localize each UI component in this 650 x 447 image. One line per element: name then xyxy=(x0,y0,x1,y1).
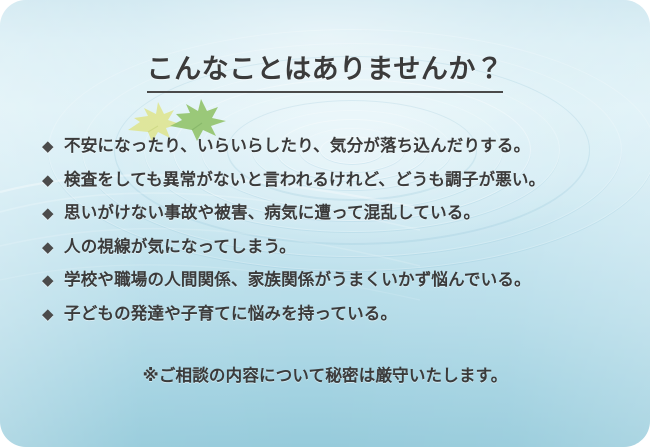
diamond-bullet-icon: ◆ xyxy=(42,139,64,154)
page-title: こんなことはありませんか？ xyxy=(0,47,650,93)
list-item-label: 思いがけない事故や被害、病気に遭って混乱している。 xyxy=(64,199,627,223)
list-item: ◆ 不安になったり、いらいらしたり、気分が落ち込んだりする。 xyxy=(42,132,627,153)
list-item: ◆ 学校や職場の人間関係、家族関係がうまくいかず悩んでいる。 xyxy=(42,266,627,287)
list-item-label: 不安になったり、いらいらしたり、気分が落ち込んだりする。 xyxy=(64,132,627,156)
list-item-label: 子どもの発達や子育てに悩みを持っている。 xyxy=(64,300,627,324)
list-item: ◆ 思いがけない事故や被害、病気に遭って混乱している。 xyxy=(42,199,627,220)
list-item-label: 学校や職場の人間関係、家族関係がうまくいかず悩んでいる。 xyxy=(64,266,627,290)
card-content: こんなことはありませんか？ ◆ 不安になったり、いらいらしたり、気分が落ち込んだ… xyxy=(0,0,650,447)
page-title-text: こんなことはありませんか？ xyxy=(147,47,504,93)
list-item: ◆ 検査をしても異常がないと言われるけれど、どうも調子が悪い。 xyxy=(42,166,627,187)
list-item: ◆ 人の視線が気になってしまう。 xyxy=(42,233,627,254)
diamond-bullet-icon: ◆ xyxy=(42,307,64,322)
diamond-bullet-icon: ◆ xyxy=(42,206,64,221)
diamond-bullet-icon: ◆ xyxy=(42,273,64,288)
information-card: こんなことはありませんか？ ◆ 不安になったり、いらいらしたり、気分が落ち込んだ… xyxy=(0,0,650,447)
diamond-bullet-icon: ◆ xyxy=(42,240,64,255)
list-item-label: 検査をしても異常がないと言われるけれど、どうも調子が悪い。 xyxy=(64,166,627,190)
diamond-bullet-icon: ◆ xyxy=(42,173,64,188)
confidentiality-note: ※ご相談の内容について秘密は厳守いたします。 xyxy=(0,362,650,386)
list-item-label: 人の視線が気になってしまう。 xyxy=(64,233,627,257)
screenshot-canvas: こんなことはありませんか？ ◆ 不安になったり、いらいらしたり、気分が落ち込んだ… xyxy=(0,0,650,447)
concerns-list: ◆ 不安になったり、いらいらしたり、気分が落ち込んだりする。 ◆ 検査をしても異… xyxy=(42,132,627,333)
list-item: ◆ 子どもの発達や子育てに悩みを持っている。 xyxy=(42,300,627,321)
